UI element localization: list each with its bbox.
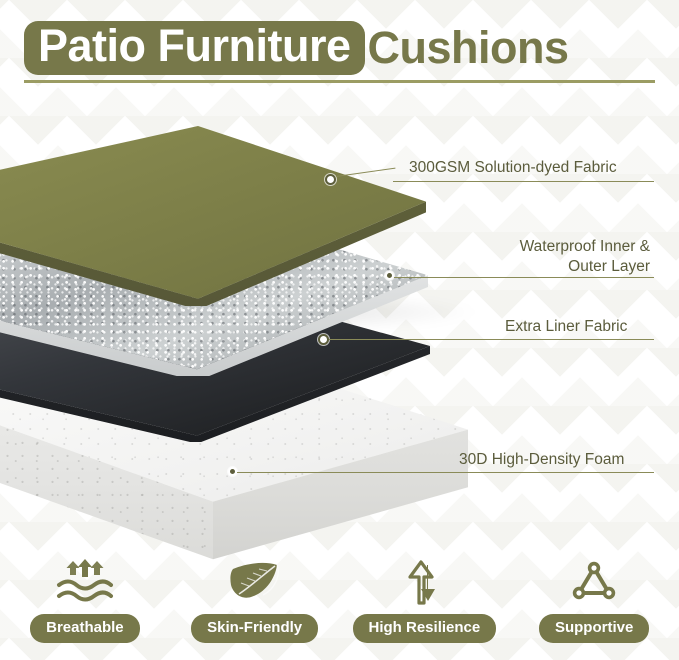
title-underline-rule [24,80,655,83]
feature-breathable[interactable]: Breathable [0,552,170,660]
callout-marker-liner [318,334,329,345]
feature-pill-supportive[interactable]: Supportive [539,614,649,643]
callout-label-foam: 30D High-Density Foam [459,450,669,470]
page-title: Patio Furniture Cushions [25,22,569,74]
title-badge-highlight: Patio Furniture [25,22,364,74]
callout-label-liner: Extra Liner Fabric [505,317,665,337]
exploded-layer-diagram: 300GSM Solution-dyed Fabric Waterproof I… [0,96,679,548]
callout-label-waterproof: Waterproof Inner & Outer Layer [400,237,650,277]
feature-pill-high-resilience[interactable]: High Resilience [353,614,497,643]
fabric-top-face [0,126,426,306]
callout-rule-waterproof [394,277,654,278]
callout-marker-fabric [325,174,336,185]
callout-label-fabric: 300GSM Solution-dyed Fabric [409,158,669,178]
triangle-nodes-icon [567,558,621,606]
feature-pill-breathable[interactable]: Breathable [30,614,140,643]
up-down-arrows-icon [399,558,449,606]
callout-marker-waterproof [385,271,394,280]
layer-solution-dyed-fabric [0,126,426,306]
callout-rule-foam [237,472,654,473]
breathable-waves-icon [54,558,116,606]
header: Patio Furniture Cushions [0,0,679,96]
feature-high-resilience[interactable]: High Resilience [340,552,510,660]
feature-badges: Breathable Skin-Friendly [0,552,679,660]
feather-icon [225,558,285,606]
callout-marker-foam [228,467,237,476]
feature-skin-friendly[interactable]: Skin-Friendly [170,552,340,660]
callout-rule-fabric [393,181,654,182]
infographic-root: Patio Furniture Cushions [0,0,679,660]
feature-pill-skin-friendly[interactable]: Skin-Friendly [191,614,318,643]
callout-rule-liner [329,339,654,340]
feature-supportive[interactable]: Supportive [509,552,679,660]
title-plain-text: Cushions [368,25,569,71]
